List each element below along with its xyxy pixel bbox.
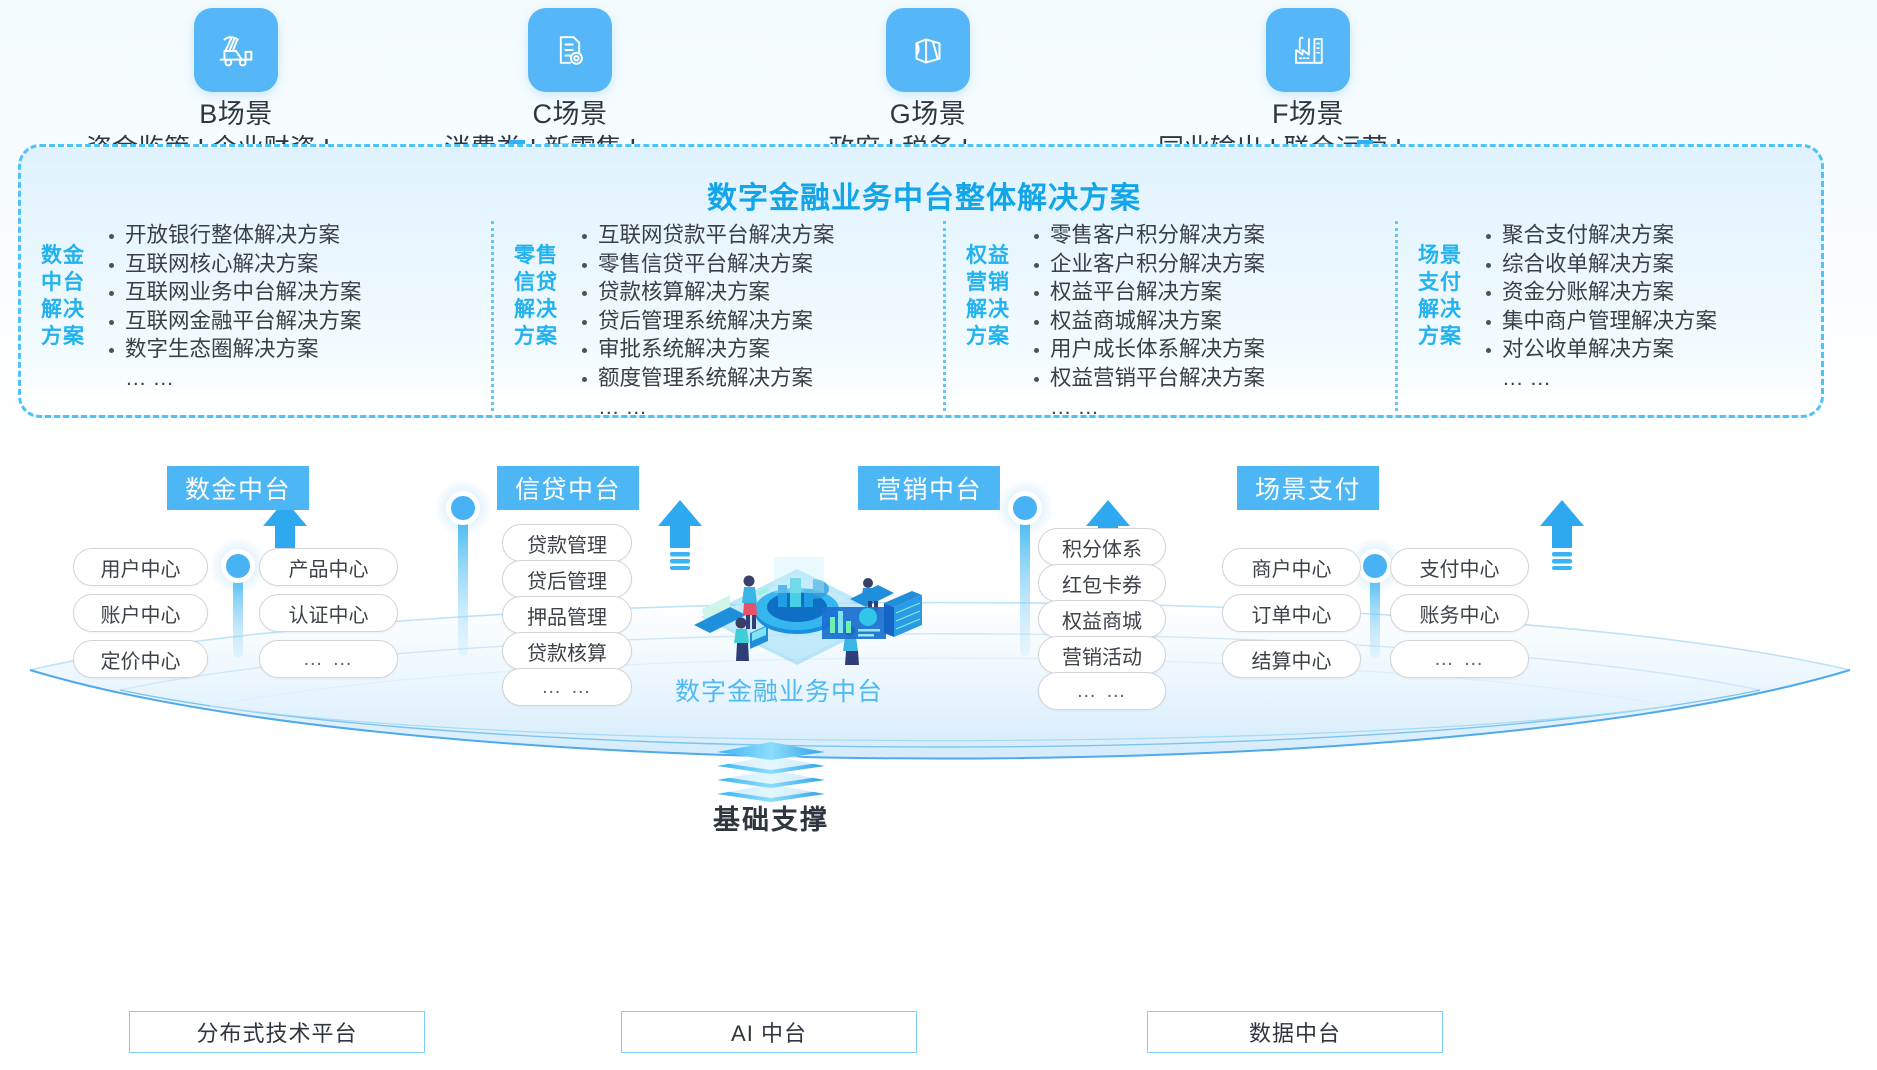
- list-item: 聚合支付解决方案: [1482, 221, 1717, 250]
- column-tag: 权益 营销 解决 方案: [960, 243, 1016, 351]
- column-tag: 数金 中台 解决 方案: [35, 243, 91, 351]
- capability-pill[interactable]: 贷款管理: [502, 524, 632, 562]
- solution-list: 开放银行整体解决方案 互联网核心解决方案 互联网业务中台解决方案 互联网金融平台…: [91, 221, 362, 393]
- tag-line: 营销: [960, 270, 1016, 297]
- list-item: 互联网金融平台解决方案: [105, 307, 362, 336]
- tag-line: 方案: [35, 324, 91, 351]
- list-item: 零售客户积分解决方案: [1030, 221, 1265, 250]
- platform-label-yingxiao[interactable]: 营销中台: [858, 466, 1000, 510]
- list-item: 企业客户积分解决方案: [1030, 250, 1265, 279]
- list-item: 权益营销平台解决方案: [1030, 364, 1265, 393]
- tag-line: 方案: [508, 324, 564, 351]
- scenario-title: C场景: [420, 98, 720, 132]
- base-box-ai[interactable]: AI 中台: [621, 1011, 917, 1053]
- capability-pill[interactable]: 贷后管理: [502, 560, 632, 598]
- base-support-label: 基础支撑: [663, 798, 879, 837]
- scenario-row: B场景 资金监管 I 企业财资 I …… C场景 消费类 I 新零售 I ……: [0, 8, 1877, 158]
- list-item: 综合收单解决方案: [1482, 250, 1717, 279]
- column-tag: 场景 支付 解决 方案: [1412, 243, 1468, 351]
- tag-line: 方案: [1412, 324, 1468, 351]
- platform-label-xindai[interactable]: 信贷中台: [497, 466, 639, 510]
- solution-panel: 数字金融业务中台整体解决方案 数金 中台 解决 方案 开放银行整体解决方案 互联…: [18, 144, 1824, 418]
- scenario-card-c[interactable]: C场景 消费类 I 新零售 I ……: [420, 8, 720, 166]
- list-item: 零售信贷平台解决方案: [578, 250, 835, 279]
- diagram-canvas: B场景 资金监管 I 企业财资 I …… C场景 消费类 I 新零售 I ……: [0, 0, 1877, 1070]
- scenario-card-b[interactable]: B场景 资金监管 I 企业财资 I ……: [86, 8, 386, 166]
- capability-pill[interactable]: 订单中心: [1222, 594, 1361, 632]
- capability-pill[interactable]: 押品管理: [502, 596, 632, 634]
- tag-line: 解决: [35, 297, 91, 324]
- solution-list: 零售客户积分解决方案 企业客户积分解决方案 权益平台解决方案 权益商城解决方案 …: [1016, 221, 1265, 421]
- capability-pill[interactable]: … …: [502, 668, 632, 706]
- platform-label-changjing[interactable]: 场景支付: [1237, 466, 1379, 510]
- tag-line: 中台: [35, 270, 91, 297]
- list-more: … …: [578, 393, 835, 422]
- capability-pill[interactable]: 定价中心: [73, 640, 208, 678]
- list-more: … …: [1482, 364, 1717, 393]
- document-verify-icon: [528, 8, 612, 92]
- capability-pill[interactable]: 产品中心: [259, 548, 398, 586]
- solution-list: 聚合支付解决方案 综合收单解决方案 资金分账解决方案 集中商户管理解决方案 对公…: [1468, 221, 1717, 393]
- capability-pill[interactable]: 结算中心: [1222, 640, 1361, 678]
- factory-icon: [1266, 8, 1350, 92]
- scenario-title: F场景: [1158, 98, 1458, 132]
- capability-pill[interactable]: 账务中心: [1390, 594, 1529, 632]
- capability-pill[interactable]: 支付中心: [1390, 548, 1529, 586]
- list-item: 额度管理系统解决方案: [578, 364, 835, 393]
- list-more: … …: [105, 364, 362, 393]
- list-item: 审批系统解决方案: [578, 335, 835, 364]
- list-item: 互联网业务中台解决方案: [105, 278, 362, 307]
- map-document-icon: [886, 8, 970, 92]
- capability-pill[interactable]: 账户中心: [73, 594, 208, 632]
- capability-pill[interactable]: … …: [1038, 672, 1166, 710]
- scenario-card-g[interactable]: G场景 政府 I 税务 I ……: [778, 8, 1078, 166]
- list-item: 贷后管理系统解决方案: [578, 307, 835, 336]
- list-item: 集中商户管理解决方案: [1482, 307, 1717, 336]
- list-item: 数字生态圈解决方案: [105, 335, 362, 364]
- capability-pill[interactable]: 红包卡券: [1038, 564, 1166, 602]
- list-item: 用户成长体系解决方案: [1030, 335, 1265, 364]
- list-item: 互联网核心解决方案: [105, 250, 362, 279]
- tag-line: 权益: [960, 243, 1016, 270]
- tag-line: 解决: [508, 297, 564, 324]
- column-tag: 零售 信贷 解决 方案: [508, 243, 564, 351]
- capability-pill[interactable]: 权益商城: [1038, 600, 1166, 638]
- capability-pill[interactable]: 积分体系: [1038, 528, 1166, 566]
- list-item: 贷款核算解决方案: [578, 278, 835, 307]
- solution-columns: 数金 中台 解决 方案 开放银行整体解决方案 互联网核心解决方案 互联网业务中台…: [21, 221, 1827, 411]
- solution-column-quanyi-yingxiao: 权益 营销 解决 方案 零售客户积分解决方案 企业客户积分解决方案 权益平台解决…: [943, 221, 1395, 411]
- tag-line: 场景: [1412, 243, 1468, 270]
- truck-cargo-icon: [194, 8, 278, 92]
- pin-marker-xindai: [428, 478, 498, 638]
- tag-line: 信贷: [508, 270, 564, 297]
- scenario-card-f[interactable]: F场景 同业输出 I 联合运营 I ……: [1158, 8, 1458, 166]
- capability-pill[interactable]: 用户中心: [73, 548, 208, 586]
- capability-pill[interactable]: 贷款核算: [502, 632, 632, 670]
- middle-platform-label: 数字金融业务中台: [664, 672, 894, 708]
- layered-stack-icon: [713, 740, 829, 802]
- list-item: 资金分账解决方案: [1482, 278, 1717, 307]
- solution-list: 互联网贷款平台解决方案 零售信贷平台解决方案 贷款核算解决方案 贷后管理系统解决…: [564, 221, 835, 421]
- list-item: 互联网贷款平台解决方案: [578, 221, 835, 250]
- tag-line: 数金: [35, 243, 91, 270]
- capability-pill[interactable]: 营销活动: [1038, 636, 1166, 674]
- platform-label-shujin[interactable]: 数金中台: [167, 466, 309, 510]
- capability-pill[interactable]: … …: [259, 640, 398, 678]
- tag-line: 零售: [508, 243, 564, 270]
- tag-line: 解决: [1412, 297, 1468, 324]
- data-center-illustration: [672, 545, 922, 675]
- capability-pill[interactable]: 商户中心: [1222, 548, 1361, 586]
- base-box-distributed[interactable]: 分布式技术平台: [129, 1011, 425, 1053]
- solution-column-lingshou-xindai: 零售 信贷 解决 方案 互联网贷款平台解决方案 零售信贷平台解决方案 贷款核算解…: [491, 221, 943, 411]
- list-more: … …: [1030, 393, 1265, 422]
- base-box-data[interactable]: 数据中台: [1147, 1011, 1443, 1053]
- tag-line: 解决: [960, 297, 1016, 324]
- list-item: 权益商城解决方案: [1030, 307, 1265, 336]
- capability-pill[interactable]: … …: [1390, 640, 1529, 678]
- list-item: 权益平台解决方案: [1030, 278, 1265, 307]
- solution-column-changjing-zhifu: 场景 支付 解决 方案 聚合支付解决方案 综合收单解决方案 资金分账解决方案 集…: [1395, 221, 1827, 411]
- list-item: 对公收单解决方案: [1482, 335, 1717, 364]
- list-item: 开放银行整体解决方案: [105, 221, 362, 250]
- capability-pill[interactable]: 认证中心: [259, 594, 398, 632]
- solution-column-shujin: 数金 中台 解决 方案 开放银行整体解决方案 互联网核心解决方案 互联网业务中台…: [21, 221, 491, 411]
- tag-line: 方案: [960, 324, 1016, 351]
- panel-title: 数字金融业务中台整体解决方案: [21, 173, 1827, 217]
- scenario-title: B场景: [86, 98, 386, 132]
- tag-line: 支付: [1412, 270, 1468, 297]
- scenario-title: G场景: [778, 98, 1078, 132]
